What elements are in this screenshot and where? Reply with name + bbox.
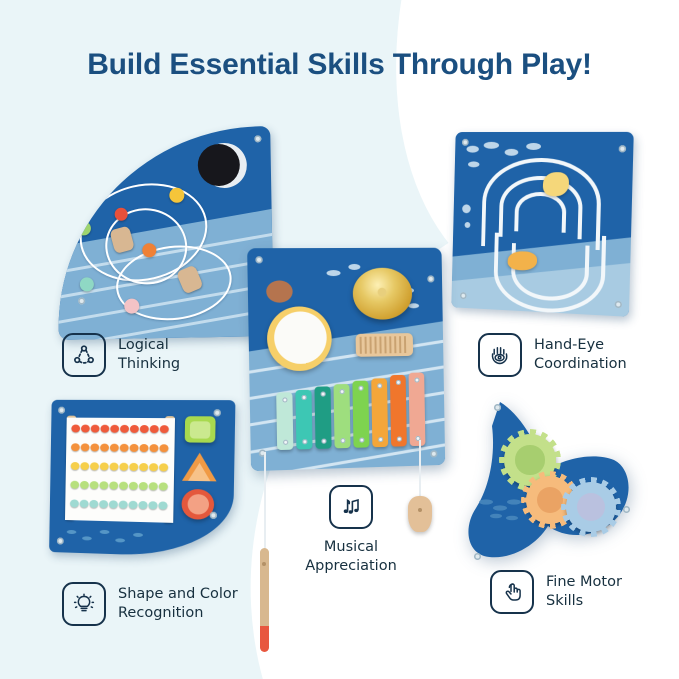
guiro-washboard[interactable] bbox=[356, 333, 414, 357]
music-notes-icon bbox=[329, 485, 373, 529]
tapping-hand-icon bbox=[490, 570, 534, 614]
abacus-bead[interactable] bbox=[110, 463, 119, 471]
abacus-bead[interactable] bbox=[90, 443, 99, 451]
gears-panel bbox=[462, 398, 642, 570]
connected-nodes-icon bbox=[62, 333, 106, 377]
abacus-bead[interactable] bbox=[109, 500, 118, 508]
abacus-bead[interactable] bbox=[129, 501, 138, 509]
bubble bbox=[465, 222, 471, 228]
bubble bbox=[408, 303, 419, 308]
mounting-screw bbox=[494, 404, 501, 411]
mounting-screw bbox=[462, 139, 469, 146]
fish-decal bbox=[100, 530, 110, 534]
skill-badge-label: Hand-EyeCoordination bbox=[534, 336, 627, 374]
fish-maze-board bbox=[451, 132, 634, 317]
abacus-bead[interactable] bbox=[159, 482, 168, 490]
abacus-bead[interactable] bbox=[99, 481, 108, 489]
abacus-bead[interactable] bbox=[110, 425, 119, 433]
bubble bbox=[466, 146, 478, 153]
page-title: Build Essential Skills Through Play! bbox=[0, 48, 679, 82]
xylophone-bar[interactable] bbox=[352, 381, 369, 448]
bubble bbox=[505, 149, 519, 156]
abacus-bead[interactable] bbox=[81, 443, 90, 451]
abacus-bead[interactable] bbox=[71, 462, 80, 470]
lightbulb-icon bbox=[62, 582, 106, 626]
xylophone-bar[interactable] bbox=[371, 378, 388, 447]
abacus-bead[interactable] bbox=[80, 462, 89, 470]
skill-badge-musical-appreciation[interactable]: MusicalAppreciation bbox=[296, 485, 406, 576]
mounting-screw bbox=[460, 292, 467, 299]
abacus-bead[interactable] bbox=[129, 482, 138, 490]
skill-badge-label: MusicalAppreciation bbox=[305, 538, 397, 576]
mallet-string-right bbox=[419, 440, 421, 500]
abacus-bead[interactable] bbox=[70, 499, 79, 507]
abacus-bead[interactable] bbox=[89, 500, 98, 508]
abacus-board bbox=[49, 400, 235, 558]
skill-badge-label: Shape and ColorRecognition bbox=[118, 585, 238, 623]
mounting-screw bbox=[214, 409, 221, 416]
fish-decal bbox=[115, 538, 125, 542]
abacus-bead[interactable] bbox=[139, 482, 148, 490]
abacus-bead[interactable] bbox=[99, 500, 108, 508]
abacus-bead[interactable] bbox=[80, 500, 89, 508]
skill-badge-label: LogicalThinking bbox=[118, 336, 180, 374]
xylophone-bar[interactable] bbox=[390, 375, 407, 447]
mallet-paddle-right[interactable] bbox=[408, 496, 432, 532]
shape-square-inner bbox=[190, 421, 211, 438]
mallet-tip-red bbox=[260, 626, 269, 652]
infographic-canvas: Build Essential Skills Through Play! bbox=[0, 0, 679, 679]
abacus-bead[interactable] bbox=[100, 444, 109, 452]
abacus-bead[interactable] bbox=[71, 443, 80, 451]
hand-with-eye-icon bbox=[478, 333, 522, 377]
mounting-screw bbox=[210, 512, 217, 519]
abacus-bead[interactable] bbox=[159, 444, 168, 452]
mounting-screw bbox=[474, 553, 481, 560]
music-panel bbox=[250, 248, 445, 468]
mounting-screw bbox=[63, 186, 70, 193]
mounting-screw bbox=[58, 407, 65, 414]
gear-jellyfish[interactable] bbox=[566, 482, 616, 532]
abacus-bead[interactable] bbox=[139, 463, 148, 471]
abacus-bead[interactable] bbox=[100, 425, 109, 433]
skill-badge-shape-and-color-recognition[interactable]: Shape and ColorRecognition bbox=[62, 582, 238, 626]
bead-maze-panel bbox=[55, 126, 274, 340]
skill-badge-logical-thinking[interactable]: LogicalThinking bbox=[62, 333, 180, 377]
bubble bbox=[462, 204, 471, 213]
abacus-bead[interactable] bbox=[138, 501, 147, 509]
skill-badge-fine-motor-skills[interactable]: Fine MotorSkills bbox=[490, 570, 622, 614]
bubble bbox=[348, 264, 360, 270]
abacus-bead[interactable] bbox=[90, 481, 99, 489]
fish-decal bbox=[67, 530, 77, 534]
mounting-screw bbox=[255, 256, 262, 263]
abacus-bead[interactable] bbox=[149, 444, 158, 452]
abacus-bead[interactable] bbox=[150, 425, 159, 433]
mounting-screw bbox=[623, 506, 630, 513]
fish-decal bbox=[133, 533, 143, 537]
bubble bbox=[326, 270, 340, 276]
xylophone-bar[interactable] bbox=[314, 386, 331, 449]
abacus-bead[interactable] bbox=[119, 482, 128, 490]
mallet-screw-right bbox=[418, 508, 422, 512]
xylophone-bar[interactable] bbox=[333, 384, 350, 448]
abacus-bead[interactable] bbox=[120, 444, 129, 452]
brown-disc bbox=[266, 280, 293, 302]
abacus-bead[interactable] bbox=[119, 501, 128, 509]
abacus-bead[interactable] bbox=[80, 481, 89, 489]
xylophone-bar[interactable] bbox=[409, 372, 426, 446]
abacus-bead[interactable] bbox=[119, 463, 128, 471]
mounting-screw bbox=[254, 135, 261, 142]
abacus-bead[interactable] bbox=[70, 481, 79, 489]
shape-triangle-inner bbox=[188, 463, 211, 482]
fish-decal bbox=[82, 536, 92, 540]
bubble bbox=[468, 161, 480, 167]
abacus-panel bbox=[48, 400, 233, 555]
abacus-bead[interactable] bbox=[149, 463, 158, 471]
abacus-bead[interactable] bbox=[148, 501, 157, 509]
maze-groove bbox=[514, 192, 566, 233]
mallet-screw-left bbox=[262, 562, 266, 566]
mounting-screw bbox=[619, 145, 626, 152]
mounting-screw bbox=[57, 537, 64, 544]
mounting-screw bbox=[427, 275, 434, 282]
skill-badge-label: Fine MotorSkills bbox=[546, 573, 622, 611]
abacus-bead[interactable] bbox=[158, 501, 167, 509]
bead-maze-board bbox=[55, 126, 274, 340]
bubble bbox=[526, 143, 541, 150]
fish-maze-panel bbox=[450, 132, 630, 312]
abacus-bead[interactable] bbox=[149, 482, 158, 490]
xylophone-bar[interactable] bbox=[295, 390, 312, 450]
skill-badge-hand-eye-coordination[interactable]: Hand-EyeCoordination bbox=[478, 333, 627, 377]
music-board bbox=[247, 248, 445, 471]
mounting-screw bbox=[78, 297, 85, 304]
xylophone-bar[interactable] bbox=[276, 392, 293, 450]
abacus-bead[interactable] bbox=[109, 481, 118, 489]
bubble bbox=[484, 142, 500, 149]
cymbal-center bbox=[378, 288, 387, 297]
abacus-bead[interactable] bbox=[129, 463, 138, 471]
